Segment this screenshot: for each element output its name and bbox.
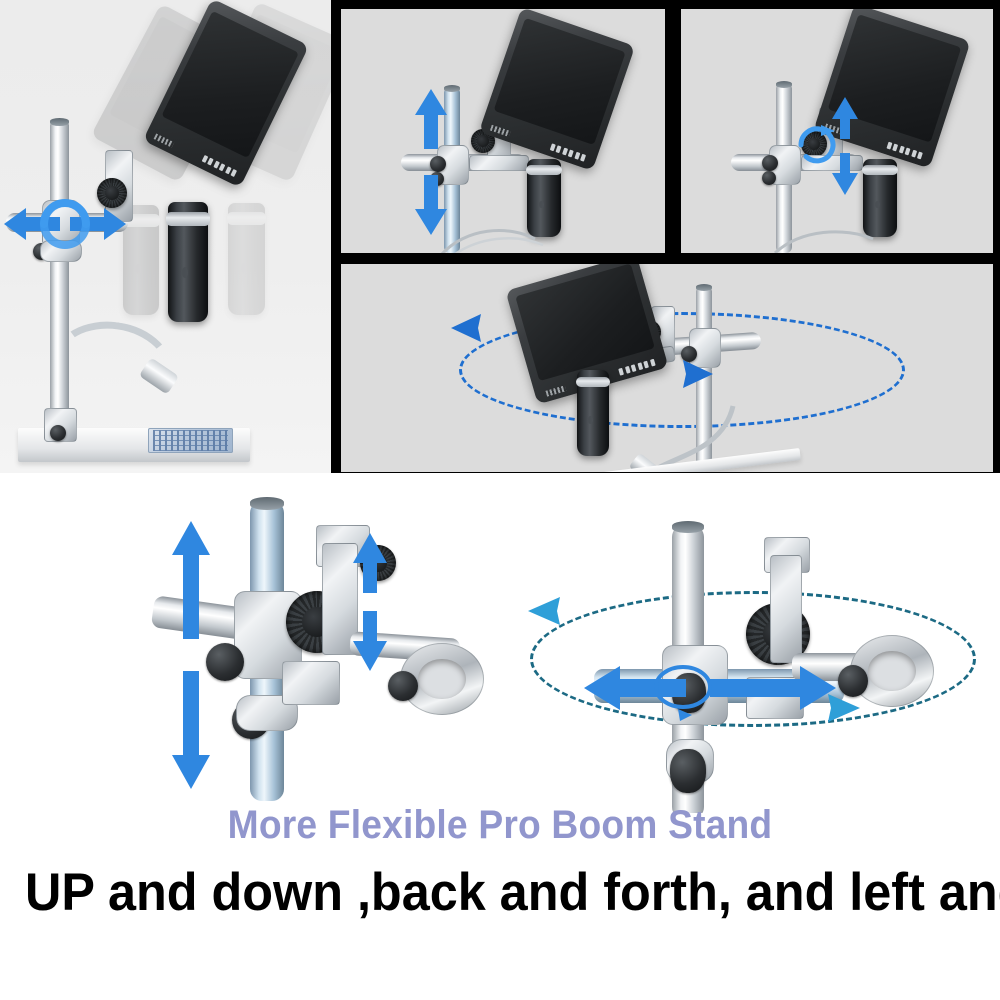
bolt-plate — [282, 661, 340, 705]
ring-lock-knob[interactable] — [388, 671, 418, 701]
arrow-up-down-right — [350, 531, 390, 673]
clamp-lock-knob-lower[interactable] — [762, 171, 776, 185]
mount-rail — [469, 155, 529, 171]
monitor-brand-mark — [153, 133, 174, 147]
subline-caption: UP and down ,back and forth, and left an… — [25, 857, 975, 929]
lower-lock-knob[interactable] — [670, 749, 706, 793]
panel-clamp-detail-vertical-travel — [110, 483, 510, 813]
column-cap — [776, 81, 792, 88]
arrow-rotate-cw — [816, 689, 866, 727]
monitor-brand-mark — [545, 386, 566, 397]
arrow-up-down-left — [168, 519, 214, 791]
monitor-buttons[interactable] — [886, 142, 923, 160]
infographic-page: More Flexible Pro Boom Stand UP and down… — [0, 0, 1000, 1000]
arrow-rotate-ccw — [447, 310, 491, 346]
top-collage — [0, 0, 1000, 478]
post-cap — [672, 521, 704, 533]
camera-barrel — [168, 202, 208, 322]
arrow-left-right-and-rotate — [0, 188, 130, 260]
arrow-up-down — [411, 87, 451, 237]
clamp-lock-knob[interactable] — [762, 155, 778, 171]
monitor-brand-mark — [490, 124, 511, 136]
arrow-rotate-cw — [671, 356, 719, 392]
monitor-screen — [494, 18, 626, 145]
post-cap — [250, 497, 284, 510]
panel-column-height-adjust — [341, 9, 665, 253]
post-cap — [50, 118, 69, 126]
slide-rail — [770, 555, 802, 663]
usb-cable — [767, 221, 897, 253]
arrow-rotate-ccw — [524, 593, 570, 629]
section-spacer — [0, 473, 884, 483]
column-cap — [696, 284, 712, 291]
swivel-ring-icon — [646, 653, 720, 727]
panel-boom-stand-full-view — [0, 0, 331, 476]
panel-horizontal-swivel-360 — [341, 264, 993, 472]
rotation-ring-icon — [793, 121, 841, 169]
panel-clamp-detail-horizontal-travel-and-swivel — [520, 493, 990, 813]
base-lock-knob[interactable] — [50, 425, 66, 441]
panel-camera-head-tilt-and-rotate — [681, 9, 993, 253]
circuit-board-sample — [148, 428, 233, 453]
monitor-buttons[interactable] — [201, 155, 237, 177]
vertical-post — [50, 120, 69, 450]
headline-caption: More Flexible Pro Boom Stand — [35, 800, 965, 850]
